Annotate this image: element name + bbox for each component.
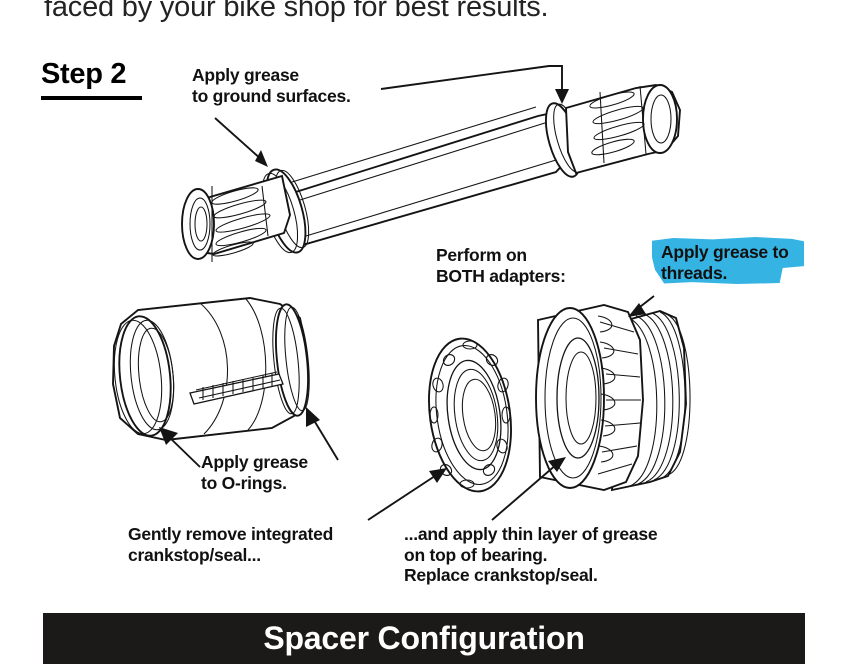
callout-remove-crankstop: Gently remove integrated crankstop/seal.… — [128, 524, 333, 565]
step-heading-underline — [41, 96, 142, 100]
arrow-crankstop-bearing — [368, 468, 447, 520]
bottom-bracket-cup-illustration — [109, 298, 313, 440]
bearing-balls — [430, 341, 510, 488]
section-banner: Spacer Configuration — [43, 613, 805, 664]
intro-text: faced by your bike shop for best results… — [44, 0, 548, 24]
leader-threads — [628, 296, 654, 317]
page-title: Step 2 — [41, 58, 126, 91]
callout-orings: Apply grease to O-rings. — [201, 452, 308, 493]
spindle-right-collar — [539, 100, 588, 181]
adapter-spline-notches — [598, 316, 641, 474]
spindle-left-collar — [255, 165, 315, 256]
bearing-crankstop-seal-illustration — [420, 333, 521, 497]
cup-brand-badge — [190, 372, 283, 404]
threaded-adapter-cup-illustration — [536, 305, 690, 490]
instruction-page: faced by your bike shop for best results… — [0, 0, 847, 668]
arrow-oring-right — [306, 407, 338, 460]
leader-ground-right — [381, 66, 569, 104]
leader-ground-left — [215, 118, 268, 167]
callout-bearing-grease: ...and apply thin layer of grease on top… — [404, 524, 657, 586]
adapter-threads — [628, 312, 690, 486]
callout-threads-highlighted: Apply grease to threads. — [661, 242, 847, 283]
callout-ground-surfaces: Apply grease to ground surfaces. — [192, 65, 351, 106]
cup-left-orings — [109, 314, 178, 439]
callout-threads-label: Apply grease to threads. — [661, 242, 847, 283]
arrow-bearing-grease — [492, 457, 566, 520]
arrow-oring-left — [159, 427, 200, 467]
cup-right-orings — [269, 303, 314, 418]
section-banner-title: Spacer Configuration — [263, 620, 584, 657]
crank-spindle-illustration — [182, 85, 680, 262]
spindle-right-spline — [566, 85, 680, 173]
callout-both-adapters: Perform on BOTH adapters: — [436, 245, 566, 286]
spindle-left-spline — [182, 176, 290, 262]
